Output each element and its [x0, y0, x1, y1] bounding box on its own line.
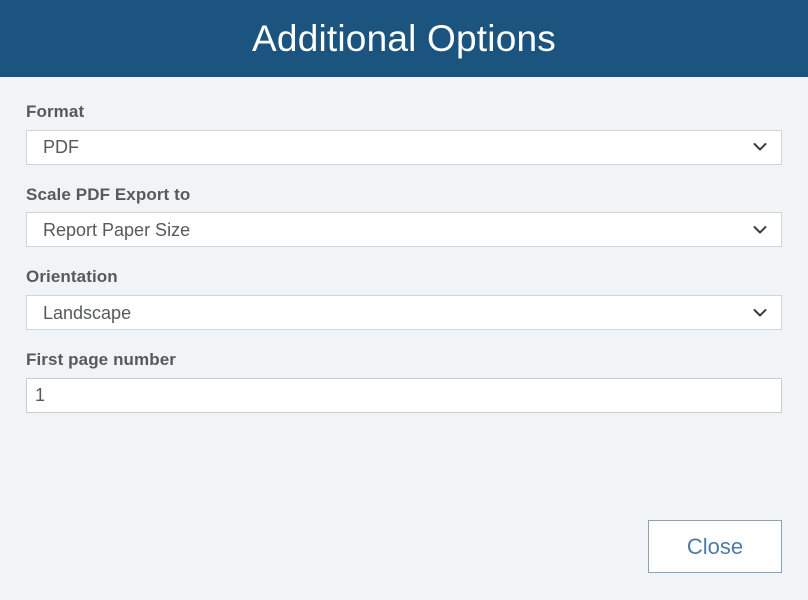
- chevron-down-icon: [751, 138, 769, 156]
- first-page-number-input[interactable]: [26, 378, 782, 413]
- additional-options-dialog: Additional Options Format PDF Scale PDF …: [0, 0, 808, 600]
- dialog-footer: Close: [26, 520, 782, 573]
- format-select-value: PDF: [43, 131, 79, 164]
- field-group-scale-pdf-export: Scale PDF Export to Report Paper Size: [26, 186, 782, 248]
- scale-pdf-export-select[interactable]: Report Paper Size: [26, 212, 782, 247]
- chevron-down-icon: [751, 304, 769, 322]
- field-label-format: Format: [26, 103, 782, 122]
- scale-pdf-export-select-value: Report Paper Size: [43, 213, 190, 246]
- field-label-scale-pdf-export: Scale PDF Export to: [26, 186, 782, 205]
- dialog-body: Format PDF Scale PDF Export to Report Pa…: [0, 77, 808, 600]
- field-label-first-page-number: First page number: [26, 351, 782, 370]
- field-group-orientation: Orientation Landscape: [26, 268, 782, 330]
- field-label-orientation: Orientation: [26, 268, 782, 287]
- orientation-select[interactable]: Landscape: [26, 295, 782, 330]
- format-select[interactable]: PDF: [26, 130, 782, 165]
- field-group-format: Format PDF: [26, 103, 782, 165]
- close-button[interactable]: Close: [648, 520, 782, 573]
- chevron-down-icon: [751, 221, 769, 239]
- orientation-select-value: Landscape: [43, 296, 131, 329]
- page-title: Additional Options: [252, 20, 556, 57]
- dialog-header: Additional Options: [0, 0, 808, 77]
- field-group-first-page-number: First page number: [26, 351, 782, 413]
